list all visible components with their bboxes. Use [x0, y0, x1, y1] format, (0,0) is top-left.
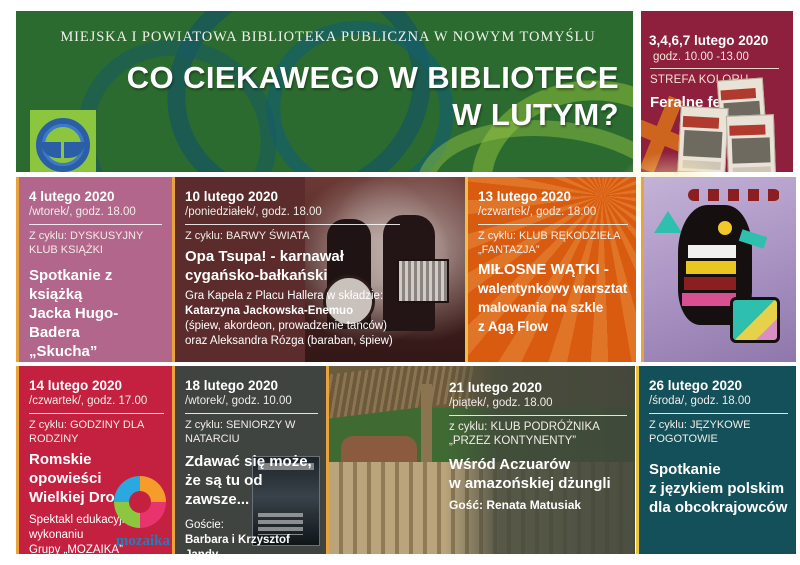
event-card-4-lutego[interactable]: 4 lutego 2020 /wtorek/, godz. 18.00 Z cy… — [16, 177, 172, 362]
event-date: 10 lutego 2020 — [185, 189, 447, 205]
event-detail-line3: (śpiew, akordeon, prowadzenie tańców) — [185, 319, 447, 334]
event-cycle-line1: Z cyklu: JĘZYKOWE — [649, 418, 788, 432]
art-stripe — [688, 245, 736, 258]
event-title-line4: z Agą Flow — [478, 317, 628, 336]
divider — [185, 413, 318, 414]
event-card-21-lutego[interactable]: 21 lutego 2020 /piątek/, godz. 18.00 z c… — [326, 366, 635, 554]
event-title-line1: Wśród Aczuarów — [449, 455, 627, 474]
event-card-14-lutego[interactable]: 14 lutego 2020 /czwartek/, godz. 17.00 Z… — [16, 366, 172, 554]
event-cycle: Z cyklu: BARWY ŚWIATA — [185, 229, 447, 243]
event-title-line2: z językiem polskim — [649, 479, 788, 498]
poster-header: MIEJSKA I POWIATOWA BIBLIOTEKA PUBLICZNA… — [0, 0, 800, 173]
event-title-line1: MIŁOSNE WĄTKI - — [478, 260, 628, 279]
event-title-line1: Opa Tsupa! - karnawał — [185, 247, 447, 266]
event-title-line2: że są tu od zawsze... — [185, 471, 318, 509]
divider — [650, 68, 779, 69]
event-detail-line2: Barbara i Krzysztof — [185, 533, 318, 548]
divider — [649, 413, 788, 414]
event-title-line2: w amazońskiej dżungli — [449, 474, 627, 493]
art-stripe — [682, 293, 736, 306]
library-logo-icon — [30, 110, 96, 172]
event-date: 13 lutego 2020 — [478, 189, 628, 205]
art-dot-row — [688, 189, 780, 201]
event-title-line2: Jacka Hugo-Badera — [29, 304, 162, 342]
event-cycle-line2: „FANTAZJA” — [478, 243, 628, 257]
mozaika-logo-word: mozaika — [116, 533, 170, 550]
event-date: 18 lutego 2020 — [185, 378, 318, 394]
institution-name: MIEJSKA I POWIATOWA BIBLIOTEKA PUBLICZNA… — [38, 29, 618, 46]
event-card-13-lutego[interactable]: 13 lutego 2020 /czwartek/, godz. 18.00 Z… — [465, 177, 636, 362]
art-bird-eye — [714, 217, 736, 239]
event-cycle: Z cyklu: SENIORZY W NATARCIU — [185, 418, 318, 446]
event-cycle-line1: Z cyklu: KLUB RĘKODZIEŁA — [478, 229, 628, 243]
event-when: /środa/, godz. 18.00 — [649, 394, 788, 409]
event-when: /piątek/, godz. 18.00 — [449, 396, 627, 411]
featured-date: 3,4,6,7 lutego 2020 — [649, 33, 789, 48]
event-cycle-line2: „PRZEZ KONTYNENTY” — [449, 434, 627, 448]
event-when: /czwartek/, godz. 17.00 — [29, 394, 164, 409]
page-title: CO CIEKAWEGO W BIBLIOTECE W LUTYM? — [19, 59, 619, 133]
header-green-panel: MIEJSKA I POWIATOWA BIBLIOTEKA PUBLICZNA… — [16, 11, 633, 172]
logo-book-spine — [61, 138, 64, 158]
event-card-26-lutego[interactable]: 26 lutego 2020 /środa/, godz. 18.00 Z cy… — [636, 366, 796, 554]
event-when: /poniedziałek/, godz. 18.00 — [185, 205, 447, 220]
event-detail-line1: Gość: Renata Matusiak — [449, 498, 627, 513]
book-cover-thumb — [726, 114, 776, 172]
event-cycle: Z cyklu: GODZINY DLA RODZINY — [29, 418, 164, 446]
divider — [185, 224, 400, 225]
event-title-line3: dla obcokrajowców — [649, 498, 788, 517]
mozaika-logo-icon — [114, 476, 166, 528]
glass-art-image — [641, 177, 796, 362]
event-detail-line1: Goście: — [185, 518, 318, 533]
event-title-line1: Spotkanie — [649, 460, 788, 479]
event-cycle-line1: z cyklu: KLUB PODRÓŻNIKA — [449, 420, 627, 434]
event-card-18-lutego[interactable]: 18 lutego 2020 /wtorek/, godz. 10.00 Z c… — [172, 366, 326, 554]
event-detail-line3: Jandy — [185, 548, 318, 554]
divider — [29, 413, 164, 414]
divider — [478, 224, 628, 225]
poster-root: MIEJSKA I POWIATOWA BIBLIOTEKA PUBLICZNA… — [0, 0, 800, 565]
art-stripe — [686, 261, 736, 274]
event-title-line3: „Skucha” — [29, 342, 162, 361]
event-cycle-line2: POGOTOWIE — [649, 432, 788, 446]
art-triangle — [654, 211, 682, 233]
event-detail-line2: Katarzyna Jackowska-Enemuo — [185, 304, 447, 319]
event-date: 4 lutego 2020 — [29, 189, 162, 205]
event-title-line2: walentynkowy warsztat — [478, 279, 628, 298]
featured-time: godz. 10.00 -13.00 — [653, 51, 793, 63]
event-detail-line1: Gra Kapela z Placu Hallera w składzie: — [185, 289, 447, 304]
divider — [449, 415, 627, 416]
event-detail-line4: oraz Aleksandra Rózga (baraban, śpiew) — [185, 334, 447, 349]
event-title-line1: Spotkanie z książką — [29, 266, 162, 304]
art-stripe — [684, 277, 736, 290]
event-date: 26 lutego 2020 — [649, 378, 788, 394]
featured-event-panel: 3,4,6,7 lutego 2020 godz. 10.00 -13.00 S… — [641, 11, 793, 172]
event-cycle: Z cyklu: DYSKUSYJNY KLUB KSIĄŻKI — [29, 229, 162, 257]
event-card-10-lutego[interactable]: 10 lutego 2020 /poniedziałek/, godz. 18.… — [172, 177, 465, 362]
event-date: 21 lutego 2020 — [449, 380, 627, 396]
event-title-line2: cygańsko-bałkański — [185, 266, 447, 285]
event-when: /wtorek/, godz. 10.00 — [185, 394, 318, 409]
event-date: 14 lutego 2020 — [29, 378, 164, 394]
event-when: /czwartek/, godz. 18.00 — [478, 205, 628, 220]
divider — [29, 224, 162, 225]
event-when: /wtorek/, godz. 18.00 — [29, 205, 162, 220]
event-title-line1: Zdawać się może, — [185, 452, 318, 471]
page-title-line1: CO CIEKAWEGO W BIBLIOTECE — [19, 59, 619, 96]
event-title-line3: malowania na szkle — [478, 298, 628, 317]
page-title-line2: W LUTYM? — [19, 96, 619, 133]
art-ball — [730, 297, 780, 343]
book-cover-thumb — [677, 106, 728, 172]
